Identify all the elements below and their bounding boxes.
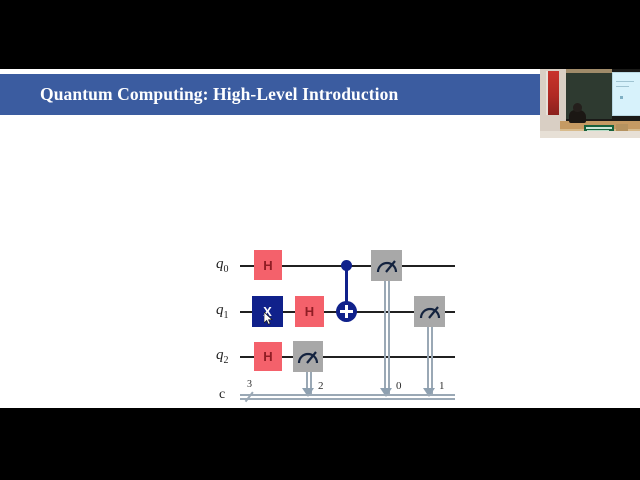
pip-screen-text-line	[616, 86, 629, 87]
hadamard-gate-q0[interactable]: H	[254, 250, 282, 280]
classical-wire-top	[240, 394, 455, 396]
qubit-label-q1: q1	[216, 302, 229, 321]
pip-screen-marker	[620, 96, 623, 99]
gate-symbol: H	[263, 258, 272, 273]
quantum-circuit-diagram: q0 q1 q2 H X H H	[0, 115, 640, 408]
measure-arrowhead-q0	[380, 388, 392, 397]
bit-label-1: 1	[439, 380, 445, 392]
mouse-pointer-icon	[264, 312, 273, 325]
pip-presenter-head	[573, 103, 582, 112]
qubit-index: 1	[224, 310, 229, 321]
pip-screen-text-line	[616, 81, 634, 82]
video-player-screen: Quantum Computing: High-Level Introducti…	[0, 0, 640, 480]
measure-arrowhead-q2	[302, 388, 314, 397]
letterbox-top	[0, 0, 640, 69]
hadamard-gate-q1[interactable]: H	[295, 296, 324, 327]
qubit-index: 0	[224, 264, 229, 275]
measure-droplink-q1	[431, 327, 433, 395]
qubit-label-q2: q2	[216, 347, 229, 366]
cnot-plus-vertical	[345, 305, 348, 318]
qubit-letter: q	[216, 256, 224, 272]
pip-flag-icon	[548, 71, 559, 115]
measure-arrowhead-q1	[423, 388, 435, 397]
hadamard-gate-q2[interactable]: H	[254, 342, 282, 371]
letterbox-bottom	[0, 408, 640, 480]
measure-meter-icon	[375, 257, 399, 275]
bit-label-2: 2	[318, 380, 324, 392]
bit-label-0: 0	[396, 380, 402, 392]
measure-droplink-q1	[427, 327, 429, 395]
gate-symbol: H	[263, 349, 272, 364]
qubit-letter: q	[216, 302, 224, 318]
presentation-slide: Quantum Computing: High-Level Introducti…	[0, 69, 640, 408]
gate-symbol: H	[305, 304, 314, 319]
classical-register-label: c	[219, 387, 225, 403]
cnot-control-dot[interactable]	[341, 260, 352, 271]
pip-projection-screen	[612, 72, 640, 116]
qubit-label-q0: q0	[216, 256, 229, 275]
page-title: Quantum Computing: High-Level Introducti…	[40, 84, 398, 105]
measure-gate-q0[interactable]	[371, 250, 402, 281]
qubit-index: 2	[224, 355, 229, 366]
measure-meter-icon	[296, 348, 320, 366]
qubit-letter: q	[216, 347, 224, 363]
classical-wire-bottom	[240, 398, 455, 400]
measure-droplink-q0	[388, 281, 390, 395]
measure-meter-icon	[418, 303, 442, 321]
measure-gate-q2[interactable]	[293, 341, 323, 372]
classical-register-width: 3	[247, 379, 252, 390]
pip-chalkboard-frame	[566, 69, 612, 73]
measure-droplink-q0	[384, 281, 386, 395]
measure-gate-q1[interactable]	[414, 296, 445, 327]
